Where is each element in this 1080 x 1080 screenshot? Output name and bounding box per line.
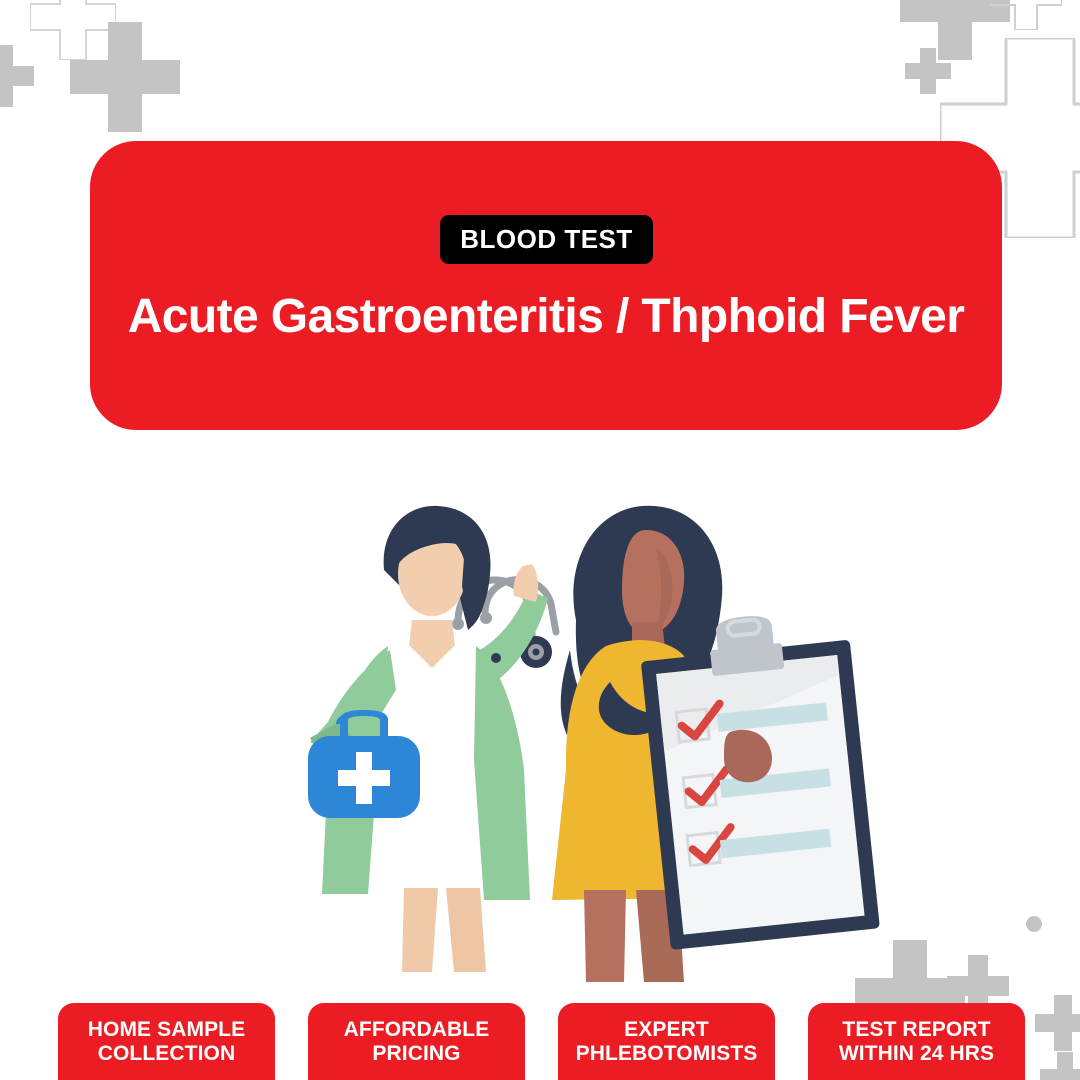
blood-test-badge: BLOOD TEST [440,215,653,264]
feature-label: EXPERT PHLEBOTOMISTS [570,1018,764,1065]
healthcare-workers-illustration [280,470,900,1030]
feature-line-1: AFFORDABLE [344,1018,490,1041]
nurse-leg-left [584,890,626,982]
blood-test-label: BLOOD TEST [460,224,633,255]
feature-line-2: PRICING [372,1042,460,1065]
title-banner: BLOOD TEST Acute Gastroenteritis / Thpho… [90,141,1002,430]
poster-canvas: BLOOD TEST Acute Gastroenteritis / Thpho… [0,0,1080,1080]
cross-bottom-right-edge-icon [1040,1052,1080,1080]
feature-badge-home-sample-collection[interactable]: HOME SAMPLE COLLECTION [58,1003,275,1080]
feature-badge-test-report-within-24-hrs[interactable]: TEST REPORT WITHIN 24 HRS [808,1003,1025,1080]
page-title: Acute Gastroenteritis / Thphoid Fever [90,289,1002,344]
feature-badge-affordable-pricing[interactable]: AFFORDABLE PRICING [308,1003,525,1080]
feature-badge-expert-phlebotomists[interactable]: EXPERT PHLEBOTOMISTS [558,1003,775,1080]
doctor-leg-right [446,888,486,972]
feature-line-2: PHLEBOTOMISTS [576,1042,758,1065]
feature-line-2: COLLECTION [98,1042,236,1065]
left-doctor-figure [308,506,556,972]
cross-top-right-outline-small-icon [990,0,1062,30]
coat-right-panel [474,646,530,900]
stethoscope-eartip-right [480,612,492,624]
coat-cuff-dot [491,653,501,663]
decorative-dot-icon [1026,916,1042,932]
doctor-leg-left [402,888,438,972]
cross-bottom-right-solid-small-icon [1035,995,1080,1051]
feature-line-2: WITHIN 24 HRS [839,1042,994,1065]
feature-line-1: EXPERT [624,1018,709,1041]
right-nurse-figure [552,506,880,982]
doctor-raised-hand [513,564,538,602]
cross-left-edge-solid-icon [0,45,34,107]
feature-label: TEST REPORT WITHIN 24 HRS [833,1018,1000,1065]
feature-line-1: HOME SAMPLE [88,1018,245,1041]
feature-line-1: TEST REPORT [842,1018,990,1041]
cross-top-left-solid-icon [70,22,180,132]
stethoscope-eartip-left [452,618,464,630]
feature-label: HOME SAMPLE COLLECTION [82,1018,251,1065]
feature-label: AFFORDABLE PRICING [338,1018,496,1065]
